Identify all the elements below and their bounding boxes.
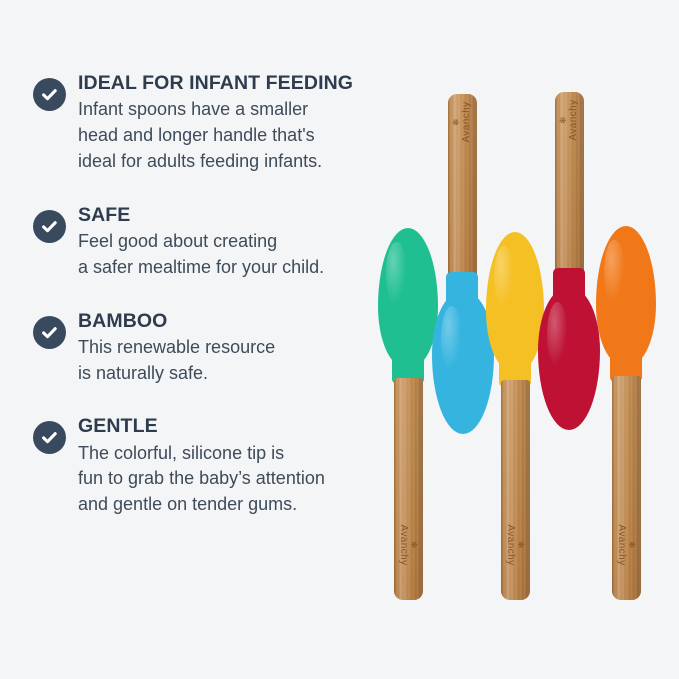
spoon-orange: ❄ Avanchy <box>596 80 656 600</box>
brand-name: Avanchy <box>568 100 579 141</box>
feature-body-line: This renewable resource <box>78 335 373 361</box>
feature-body-line: ideal for adults feeding infants. <box>78 149 373 175</box>
feature-body-line: head and longer handle that's <box>78 123 373 149</box>
brand-name: Avanchy <box>461 102 472 143</box>
brand-engraving: ❄ Avanchy <box>452 90 472 154</box>
brand-name: Avanchy <box>505 525 516 566</box>
spoon-bowl-blue <box>432 292 494 434</box>
feature-body-line: The colorful, silicone tip is <box>78 441 373 467</box>
bee-icon: ❄ <box>559 88 567 152</box>
feature-list: IDEAL FOR INFANT FEEDING Infant spoons h… <box>33 72 373 543</box>
bee-icon: ❄ <box>452 90 460 154</box>
check-circle-icon <box>33 316 66 349</box>
brand-name: Avanchy <box>616 525 627 566</box>
feature-block-gentle: GENTLE The colorful, silicone tip is fun… <box>33 415 373 517</box>
feature-body-line: is naturally safe. <box>78 361 373 387</box>
feature-body-line: Feel good about creating <box>78 229 373 255</box>
spoon-product-group: ❄ Avanchy ❄ Avanchy ❄ Avanchy <box>370 80 670 600</box>
feature-body: This renewable resource is naturally saf… <box>78 335 373 386</box>
feature-body-line: Infant spoons have a smaller <box>78 97 373 123</box>
product-infographic: IDEAL FOR INFANT FEEDING Infant spoons h… <box>0 0 679 679</box>
feature-body: The colorful, silicone tip is fun to gra… <box>78 441 373 518</box>
feature-heading: SAFE <box>78 204 373 226</box>
feature-block-ideal-for-infant-feeding: IDEAL FOR INFANT FEEDING Infant spoons h… <box>33 72 373 174</box>
brand-name: Avanchy <box>398 525 409 566</box>
spoon-blue: ❄ Avanchy <box>432 80 494 600</box>
spoon-bowl-green <box>378 228 438 368</box>
spoon-bowl-orange <box>596 226 656 366</box>
brand-engraving: ❄ Avanchy <box>616 513 636 577</box>
bee-icon: ❄ <box>517 513 525 577</box>
brand-engraving: ❄ Avanchy <box>505 513 525 577</box>
spoon-green: ❄ Avanchy <box>378 80 438 600</box>
brand-engraving: ❄ Avanchy <box>559 88 579 152</box>
spoon-bowl-yellow <box>486 232 544 372</box>
check-circle-icon <box>33 421 66 454</box>
spoon-bowl-red <box>538 288 600 430</box>
feature-heading: GENTLE <box>78 415 373 437</box>
bee-icon: ❄ <box>628 513 636 577</box>
check-circle-icon <box>33 210 66 243</box>
feature-block-safe: SAFE Feel good about creating a safer me… <box>33 204 373 281</box>
feature-body-line: and gentle on tender gums. <box>78 492 373 518</box>
feature-body-line: a safer mealtime for your child. <box>78 255 373 281</box>
feature-block-bamboo: BAMBOO This renewable resource is natura… <box>33 310 373 387</box>
feature-body: Infant spoons have a smaller head and lo… <box>78 97 373 174</box>
spoon-yellow: ❄ Avanchy <box>486 80 544 600</box>
feature-body-line: fun to grab the baby’s attention <box>78 466 373 492</box>
bee-icon: ❄ <box>410 513 418 577</box>
feature-heading: IDEAL FOR INFANT FEEDING <box>78 72 373 94</box>
check-circle-icon <box>33 78 66 111</box>
feature-body: Feel good about creating a safer mealtim… <box>78 229 373 280</box>
feature-heading: BAMBOO <box>78 310 373 332</box>
spoon-red: ❄ Avanchy <box>538 80 600 600</box>
brand-engraving: ❄ Avanchy <box>398 513 418 577</box>
